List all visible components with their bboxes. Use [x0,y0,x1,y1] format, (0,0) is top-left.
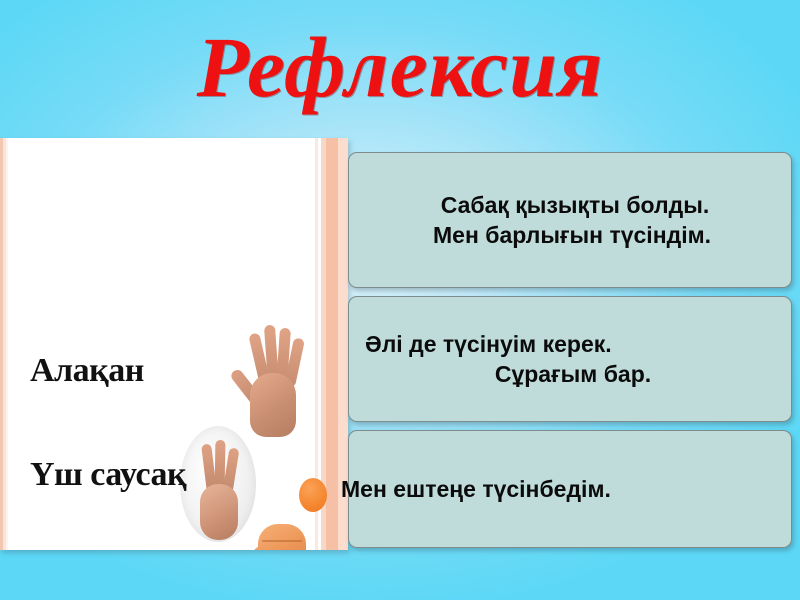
three-fingers-icon [180,426,256,542]
statement-box-understood[interactable]: Сабақ қызықты болды. Мен барлығын түсінд… [348,152,792,288]
slide-canvas: Рефлексия [0,0,800,600]
gesture-label-palm: Алақан [30,352,144,390]
statement-line: Сабақ қызықты болды. [349,190,791,220]
orange-dot-marker [299,478,327,512]
statement-line: Әлі де түсінуім керек. [349,329,791,359]
statement-line: Мен барлығын түсіндім. [349,220,791,250]
statement-box-partial[interactable]: Әлі де түсінуім керек. Сұрағым бар. [348,296,792,422]
statement-line: Сұрағым бар. [349,359,791,389]
gesture-label-three-fingers: Үш саусақ [30,456,186,494]
statement-line: Мен ештеңе түсінбедім. [341,474,791,504]
panel-edge-strip [326,138,338,550]
page-title: Рефлексия [0,22,800,112]
hand-gestures-panel: Алақан Үш саусақ Жұдырық [0,138,348,550]
statement-box-none[interactable]: Мен ештеңе түсінбедім. [348,430,792,548]
panel-edge-strip [6,138,8,550]
closed-fist-icon [252,520,316,550]
open-palm-icon [238,321,312,441]
